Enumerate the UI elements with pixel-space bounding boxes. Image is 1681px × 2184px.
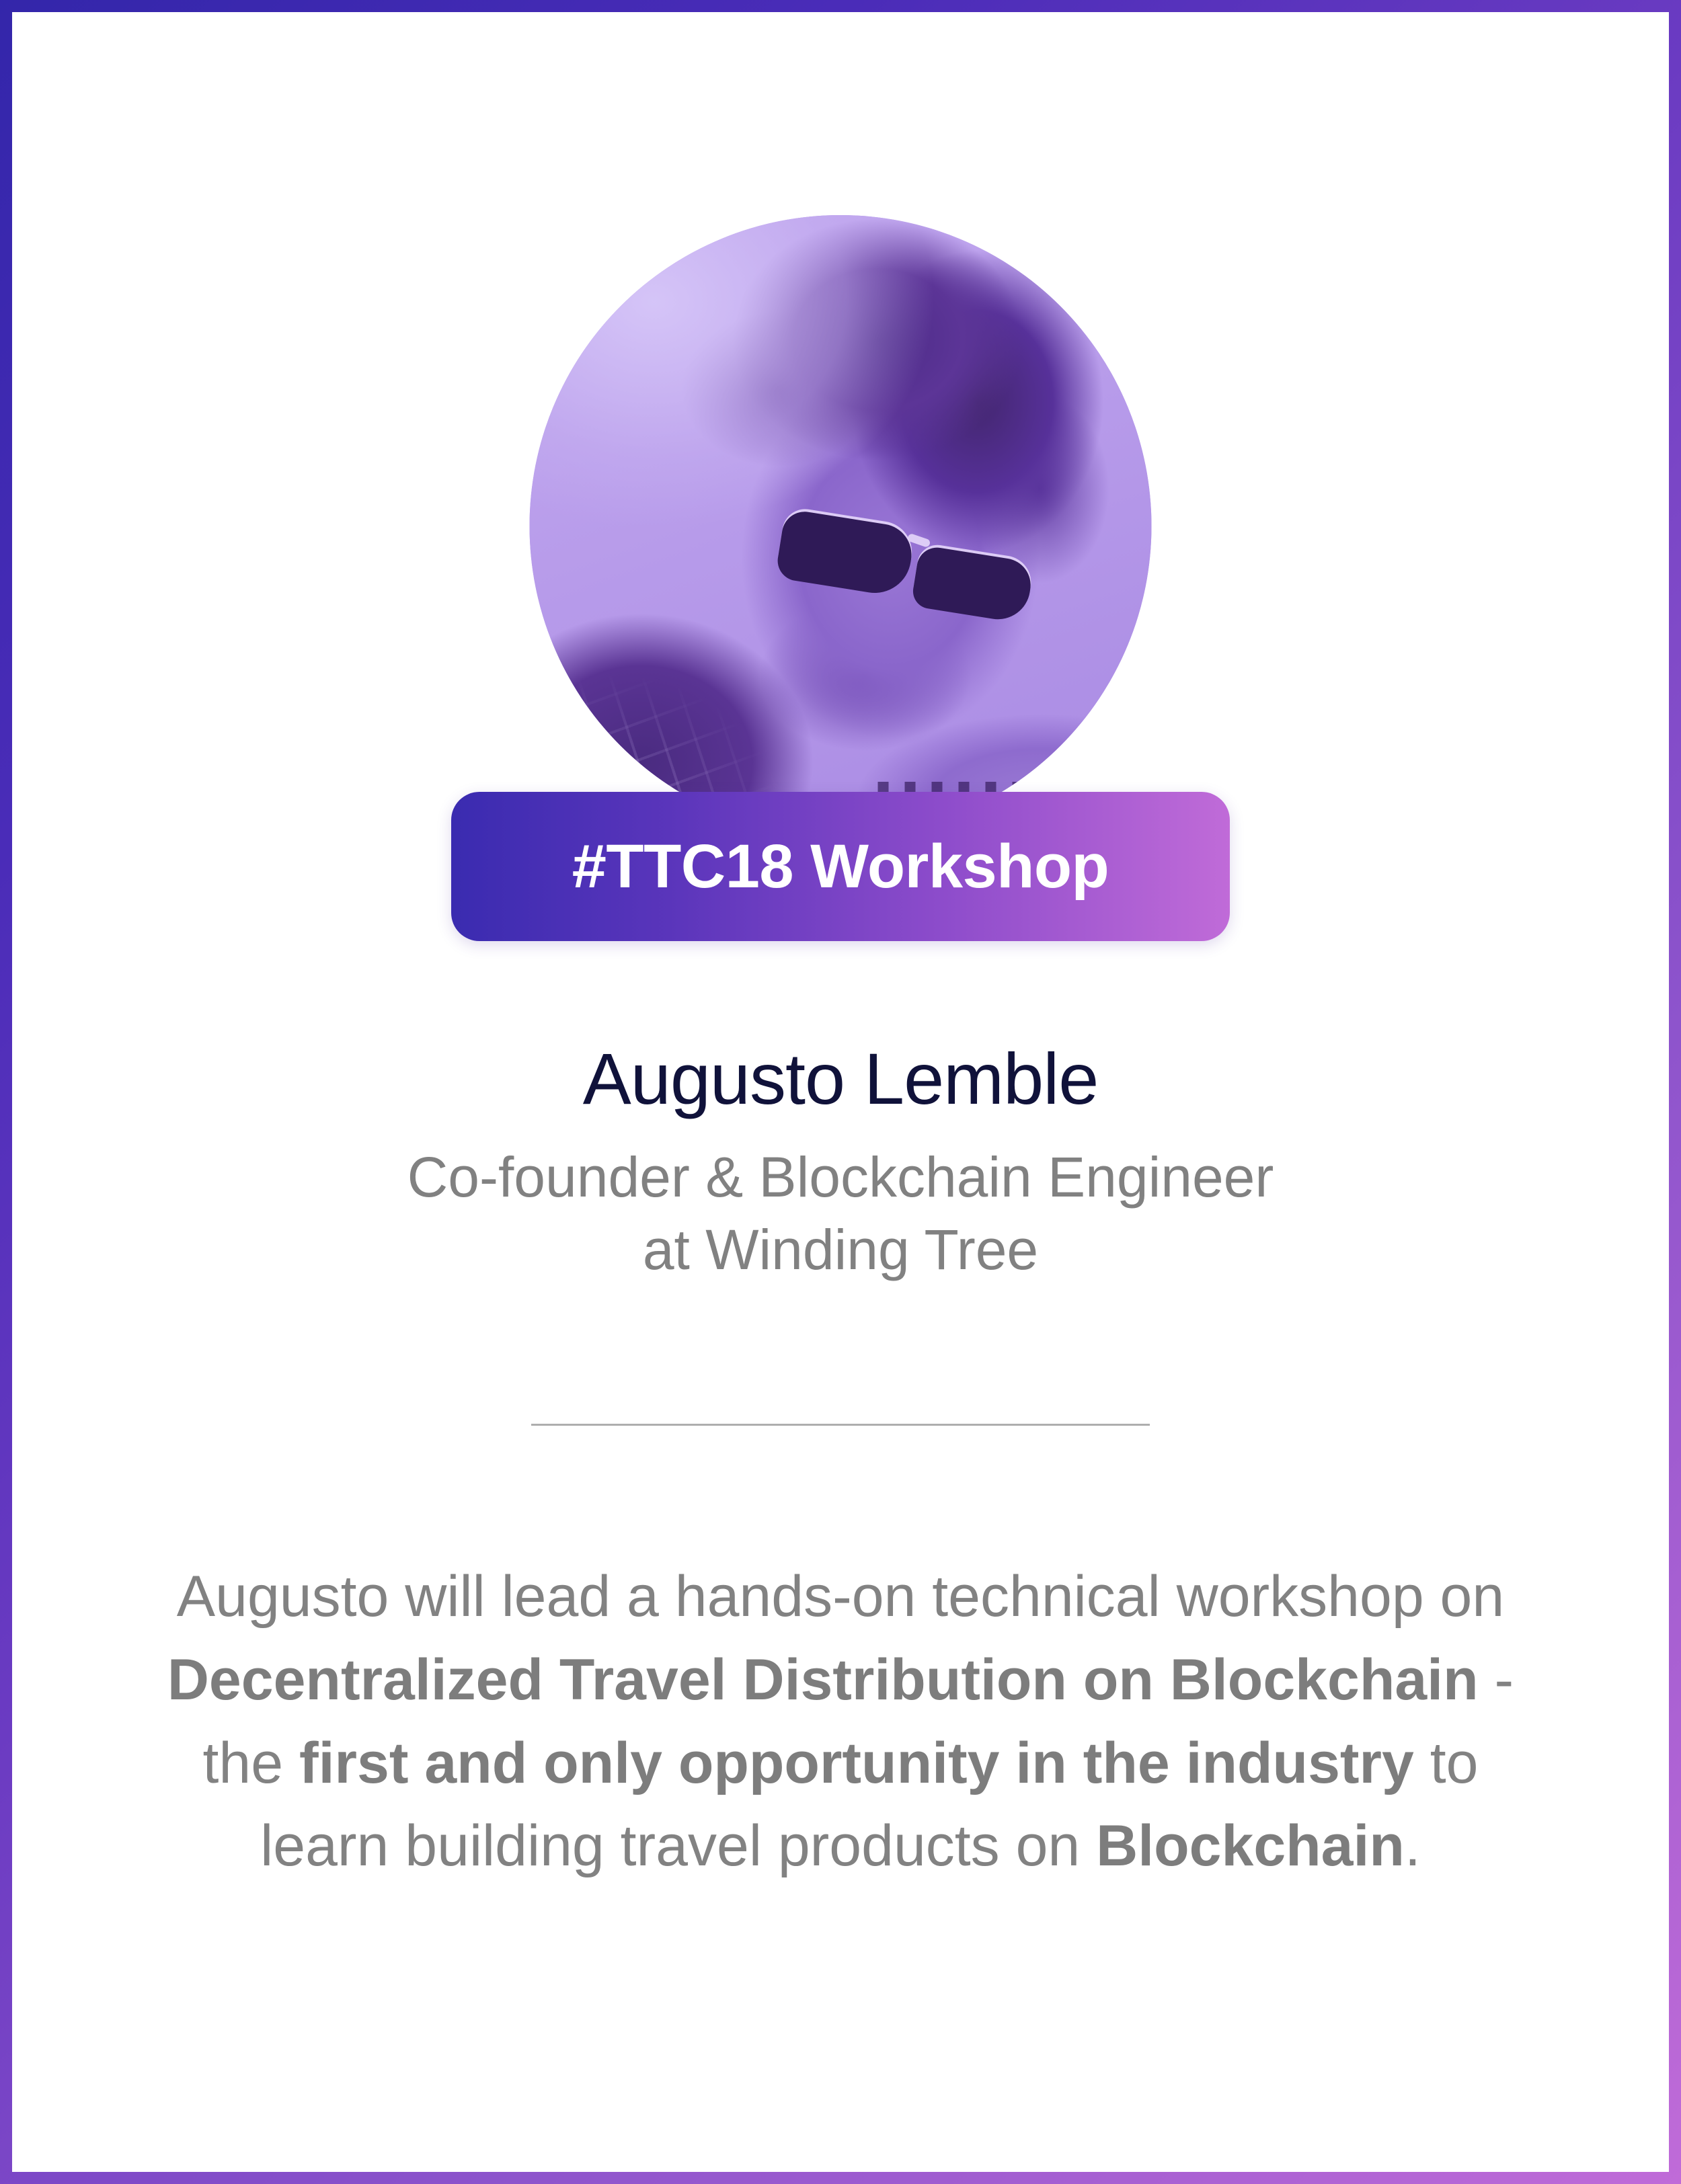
sunglass-bridge xyxy=(907,532,931,547)
description-segment-0: Augusto will lead a hands-on technical w… xyxy=(177,1564,1504,1629)
speaker-card: #TTC18 Workshop Augusto Lemble Co-founde… xyxy=(0,0,1681,2184)
speaker-role: Co-founder & Blockchain Engineer at Wind… xyxy=(12,1141,1669,1286)
description-segment-1: Decentralized Travel Distribution on Blo… xyxy=(167,1648,1479,1712)
workshop-badge-label: #TTC18 Workshop xyxy=(572,836,1109,897)
speaker-name: Augusto Lemble xyxy=(12,1039,1669,1120)
avatar-circle xyxy=(530,215,1152,837)
avatar xyxy=(530,215,1152,837)
section-divider xyxy=(531,1424,1150,1426)
description-segment-6: . xyxy=(1405,1814,1421,1878)
description-segment-3: first and only opportunity in the indust… xyxy=(299,1731,1414,1795)
speaker-role-line-1: Co-founder & Blockchain Engineer xyxy=(12,1141,1669,1214)
card-inner: #TTC18 Workshop Augusto Lemble Co-founde… xyxy=(12,12,1669,2172)
workshop-description: Augusto will lead a hands-on technical w… xyxy=(165,1555,1516,1888)
workshop-badge: #TTC18 Workshop xyxy=(451,792,1230,941)
speaker-role-line-2: at Winding Tree xyxy=(12,1214,1669,1287)
description-segment-5: Blockchain xyxy=(1096,1814,1405,1878)
